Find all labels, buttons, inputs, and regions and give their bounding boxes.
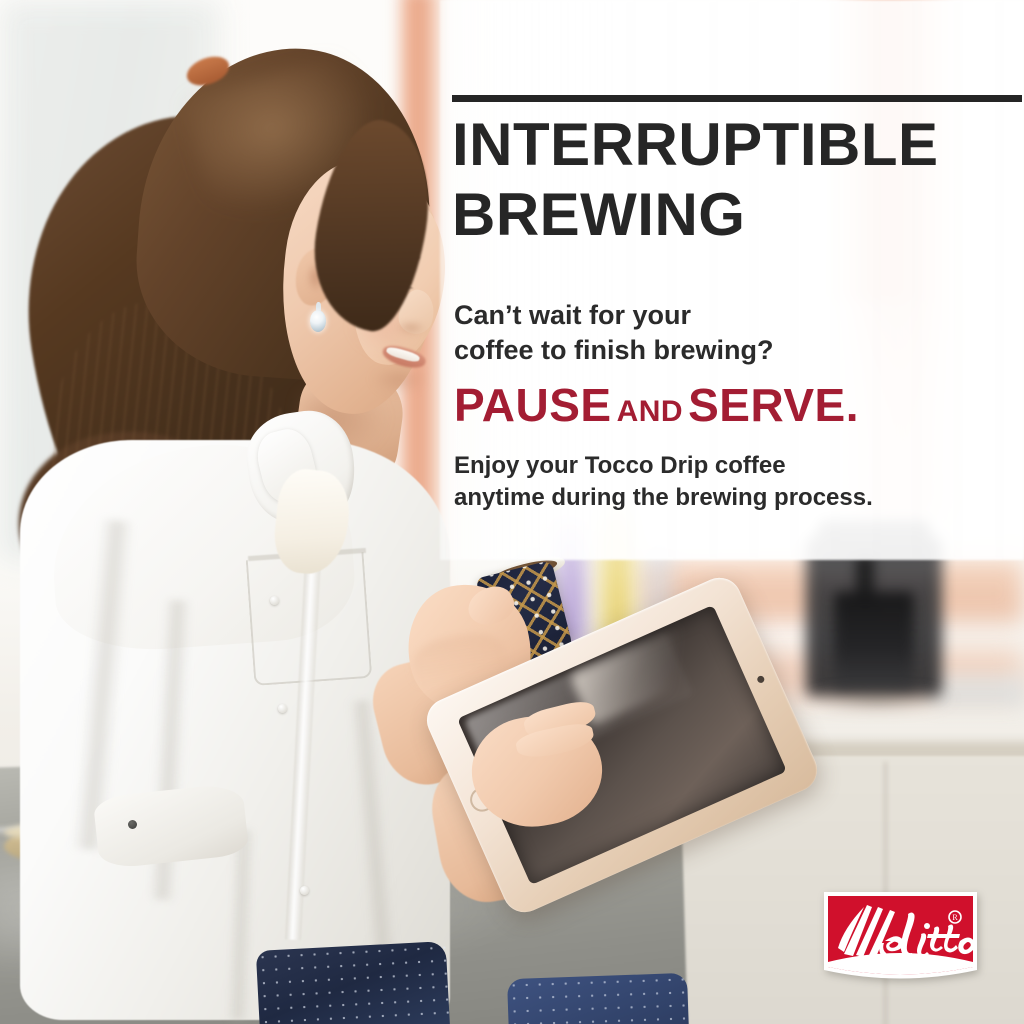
- svg-text:R: R: [952, 913, 958, 922]
- headline-line-1: INTERRUPTIBLE: [452, 110, 1012, 180]
- subheadline-line-2: coffee to finish brewing?: [454, 333, 974, 368]
- subheadline: Can’t wait for your coffee to finish bre…: [454, 298, 974, 368]
- blouse-button: [300, 886, 309, 895]
- nose-shadow: [396, 322, 426, 336]
- body-copy-line-1: Enjoy your Tocco Drip coffee: [454, 450, 974, 482]
- earring: [310, 310, 326, 332]
- headline-line-2: BREWING: [452, 180, 1012, 250]
- cta-word-pause: PAUSE: [454, 379, 612, 431]
- body-copy-line-2: anytime during the brewing process.: [454, 482, 974, 514]
- blouse-button: [278, 704, 287, 713]
- subheadline-line-1: Can’t wait for your: [454, 298, 974, 333]
- page-title: INTERRUPTIBLE BREWING: [452, 110, 1012, 249]
- headline-rule: [452, 95, 1022, 102]
- melitta-interruptible-brewing-ad: INTERRUPTIBLE BREWING Can’t wait for you…: [0, 0, 1024, 1024]
- body-copy: Enjoy your Tocco Drip coffee anytime dur…: [454, 450, 974, 513]
- chin-shadow: [372, 372, 426, 394]
- blouse-button: [270, 596, 279, 605]
- cuff-button: [128, 820, 137, 829]
- cta-statement: PAUSEANDSERVE.: [454, 378, 1014, 432]
- cta-word-serve: SERVE.: [688, 379, 859, 431]
- text-panel: INTERRUPTIBLE BREWING Can’t wait for you…: [440, 0, 1024, 1024]
- jeans-pattern: [256, 941, 450, 1024]
- melitta-logo: R: [822, 888, 979, 987]
- cta-connector-and: AND: [612, 395, 689, 428]
